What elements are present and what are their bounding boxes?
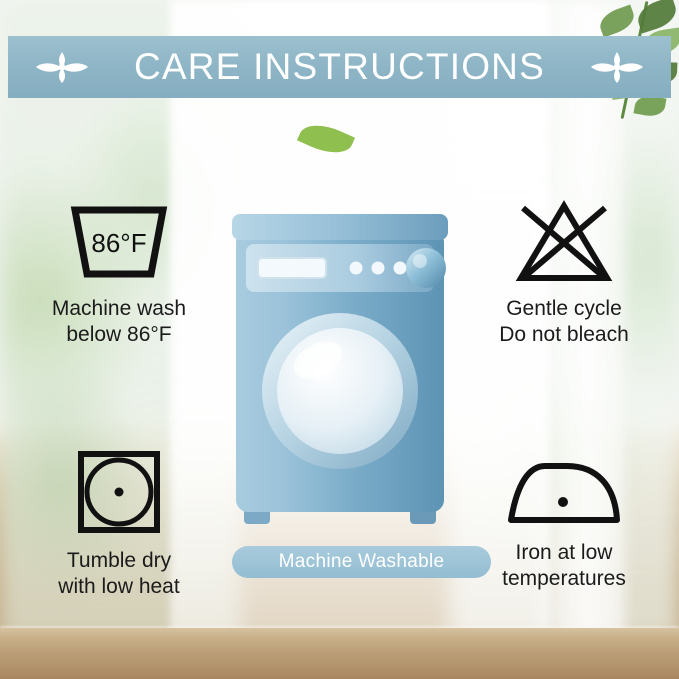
care-icon-machine-wash: 86°F Machine wash below 86°F <box>14 196 224 348</box>
care-icon-label-tumble-dry: Tumble dry with low heat <box>14 548 224 600</box>
washer-indicator-2 <box>372 262 385 275</box>
care-instructions-infographic: CARE INSTRUCTIONS 86°F Machine wash belo… <box>0 0 679 679</box>
machine-washable-badge: Machine Washable <box>232 546 491 578</box>
wash-temperature-text: 86°F <box>91 228 146 258</box>
care-icon-label-machine-wash: Machine wash below 86°F <box>14 296 224 348</box>
wash-tub-icon: 86°F <box>65 196 173 288</box>
fleur-de-lis-ornament-right <box>587 49 647 85</box>
washer-dial-knob <box>406 248 446 288</box>
care-icon-label-gentle-cycle: Gentle cycle Do not bleach <box>458 296 670 348</box>
washing-machine-illustration <box>232 208 448 538</box>
washer-top <box>232 214 448 240</box>
washer-indicator-1 <box>350 262 363 275</box>
crossed-triangle-icon <box>511 196 617 288</box>
page-title: CARE INSTRUCTIONS <box>134 46 545 88</box>
washer-indicator-3 <box>394 262 407 275</box>
tumble-dry-low-icon <box>69 446 169 542</box>
care-icon-gentle-cycle: Gentle cycle Do not bleach <box>458 196 670 348</box>
care-icon-iron: Iron at low temperatures <box>458 452 670 592</box>
wooden-table-surface <box>0 628 679 679</box>
machine-washable-badge-text: Machine Washable <box>279 551 445 573</box>
iron-icon <box>501 452 627 534</box>
fleur-de-lis-ornament-left <box>32 49 92 85</box>
care-icon-tumble-dry: Tumble dry with low heat <box>14 446 224 600</box>
washer-display <box>258 258 326 278</box>
header-banner: CARE INSTRUCTIONS <box>8 36 671 98</box>
